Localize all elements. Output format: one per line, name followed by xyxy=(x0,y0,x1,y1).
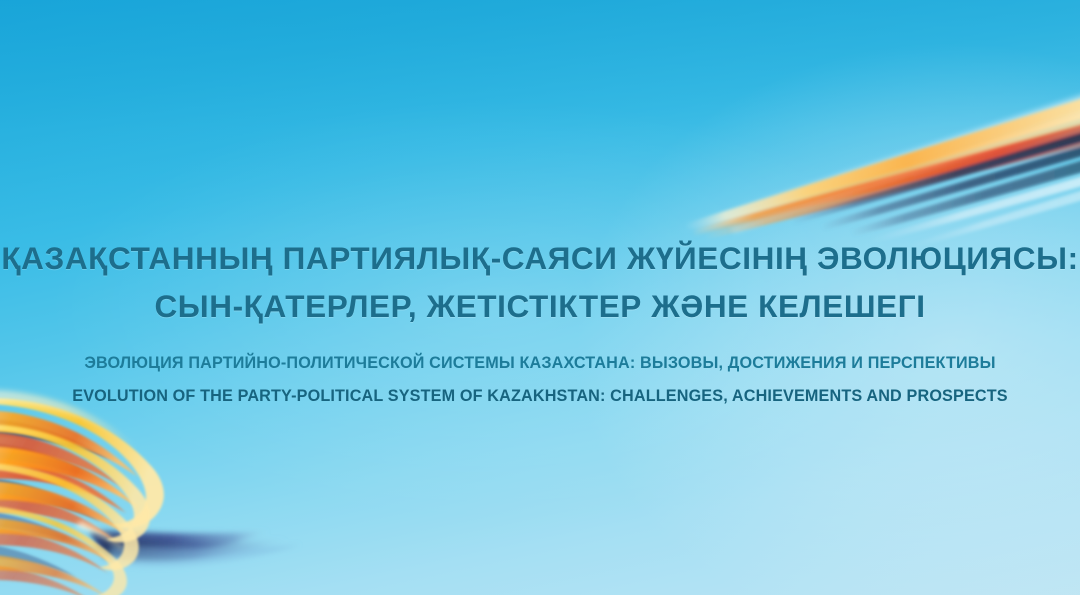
subtitle-russian: ЭВОЛЮЦИЯ ПАРТИЙНО-ПОЛИТИЧЕСКОЙ СИСТЕМЫ К… xyxy=(0,352,1080,374)
presentation-slide: ҚАЗАҚСТАННЫҢ ПАРТИЯЛЫҚ-САЯСИ ЖҮЙЕСІНІҢ Э… xyxy=(0,0,1080,595)
subtitle-english: EVOLUTION OF THE PARTY-POLITICAL SYSTEM … xyxy=(0,385,1080,407)
title-line-2: СЫН-ҚАТЕРЛЕР, ЖЕТІСТІКТЕР ЖӘНЕ КЕЛЕШЕГІ xyxy=(0,282,1080,330)
title-line-1: ҚАЗАҚСТАННЫҢ ПАРТИЯЛЫҚ-САЯСИ ЖҮЙЕСІНІҢ Э… xyxy=(0,234,1080,282)
slide-text-block: ҚАЗАҚСТАННЫҢ ПАРТИЯЛЫҚ-САЯСИ ЖҮЙЕСІНІҢ Э… xyxy=(0,234,1080,407)
